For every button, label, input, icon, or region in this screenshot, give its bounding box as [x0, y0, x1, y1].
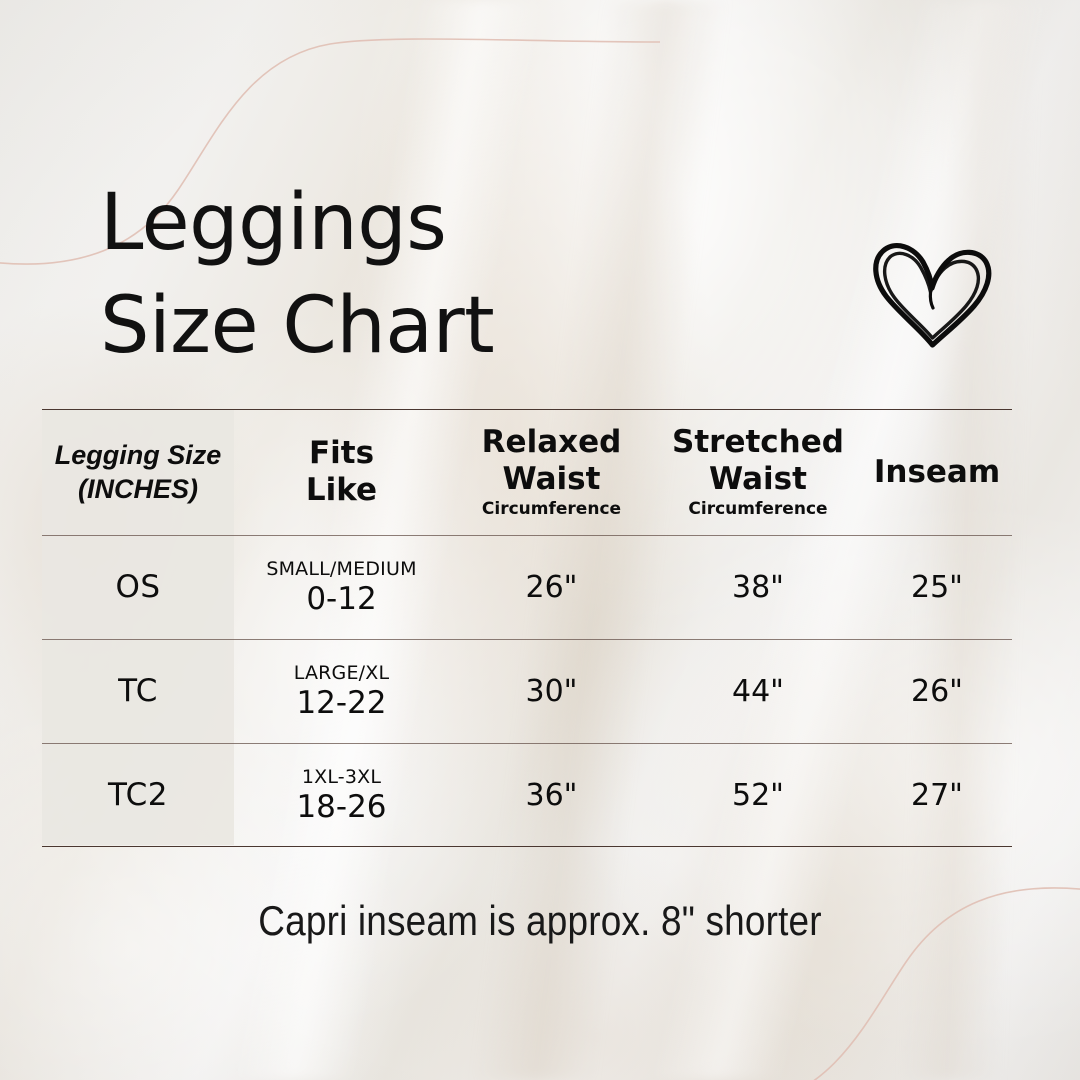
cell-fits-like: SMALL/MEDIUM 0-12	[234, 558, 449, 617]
header-sublabel-relaxed-circumference: Circumference	[482, 499, 621, 519]
size-chart-table: Legging Size (INCHES) Fits Like Relaxed …	[42, 409, 1012, 847]
value-relaxed-waist: 30"	[526, 674, 578, 709]
table-header-row: Legging Size (INCHES) Fits Like Relaxed …	[42, 409, 1012, 535]
cell-size: OS	[42, 569, 234, 605]
value-stretched-waist: 52"	[732, 778, 784, 813]
table-row: TC2 1XL-3XL 18-26 36" 52" 27"	[42, 743, 1012, 847]
header-label-size: Legging Size (INCHES)	[55, 438, 222, 506]
cell-relaxed-waist: 30"	[449, 674, 654, 709]
value-relaxed-waist: 36"	[526, 778, 578, 813]
cell-inseam: 26"	[862, 674, 1012, 709]
header-sublabel-stretched-circumference: Circumference	[688, 499, 827, 519]
page-title: Leggings Size Chart	[100, 172, 494, 378]
table-bottom-rule	[42, 846, 1012, 847]
value-stretched-waist: 38"	[732, 570, 784, 605]
cell-stretched-waist: 52"	[654, 778, 862, 813]
value-fits-like-range: 18-26	[296, 789, 386, 825]
table-row: OS SMALL/MEDIUM 0-12 26" 38" 25"	[42, 535, 1012, 639]
capri-note: Capri inseam is approx. 8" shorter	[65, 897, 1015, 945]
cell-stretched-waist: 38"	[654, 570, 862, 605]
value-inseam: 25"	[911, 570, 963, 605]
table-row: TC LARGE/XL 12-22 30" 44" 26"	[42, 639, 1012, 743]
heart-doodle-icon	[866, 228, 1000, 360]
header-cell-size: Legging Size (INCHES)	[42, 438, 234, 506]
header-label-fits-like: Fits Like	[306, 435, 377, 508]
cell-stretched-waist: 44"	[654, 674, 862, 709]
value-inseam: 27"	[911, 778, 963, 813]
header-label-inseam: Inseam	[874, 454, 1000, 491]
header-cell-relaxed-waist: Relaxed Waist Circumference	[449, 424, 654, 520]
value-fits-like-label: LARGE/XL	[294, 662, 390, 684]
cell-inseam: 25"	[862, 570, 1012, 605]
cell-size: TC2	[42, 777, 234, 813]
value-fits-like-range: 12-22	[296, 685, 386, 721]
header-label-relaxed-waist: Relaxed Waist	[482, 424, 622, 497]
value-size: TC2	[108, 777, 168, 813]
value-inseam: 26"	[911, 674, 963, 709]
cell-fits-like: LARGE/XL 12-22	[234, 662, 449, 721]
value-fits-like-label: 1XL-3XL	[302, 766, 381, 788]
cell-inseam: 27"	[862, 778, 1012, 813]
cell-size: TC	[42, 673, 234, 709]
value-fits-like-label: SMALL/MEDIUM	[266, 558, 416, 580]
header-cell-stretched-waist: Stretched Waist Circumference	[654, 424, 862, 520]
cell-fits-like: 1XL-3XL 18-26	[234, 766, 449, 825]
value-size: OS	[115, 569, 160, 605]
header-label-stretched-waist: Stretched Waist	[672, 424, 844, 497]
cell-relaxed-waist: 26"	[449, 570, 654, 605]
value-size: TC	[118, 673, 158, 709]
cell-relaxed-waist: 36"	[449, 778, 654, 813]
value-stretched-waist: 44"	[732, 674, 784, 709]
header-cell-inseam: Inseam	[862, 454, 1012, 491]
header-cell-fits-like: Fits Like	[234, 435, 449, 508]
value-fits-like-range: 0-12	[306, 581, 376, 617]
value-relaxed-waist: 26"	[526, 570, 578, 605]
